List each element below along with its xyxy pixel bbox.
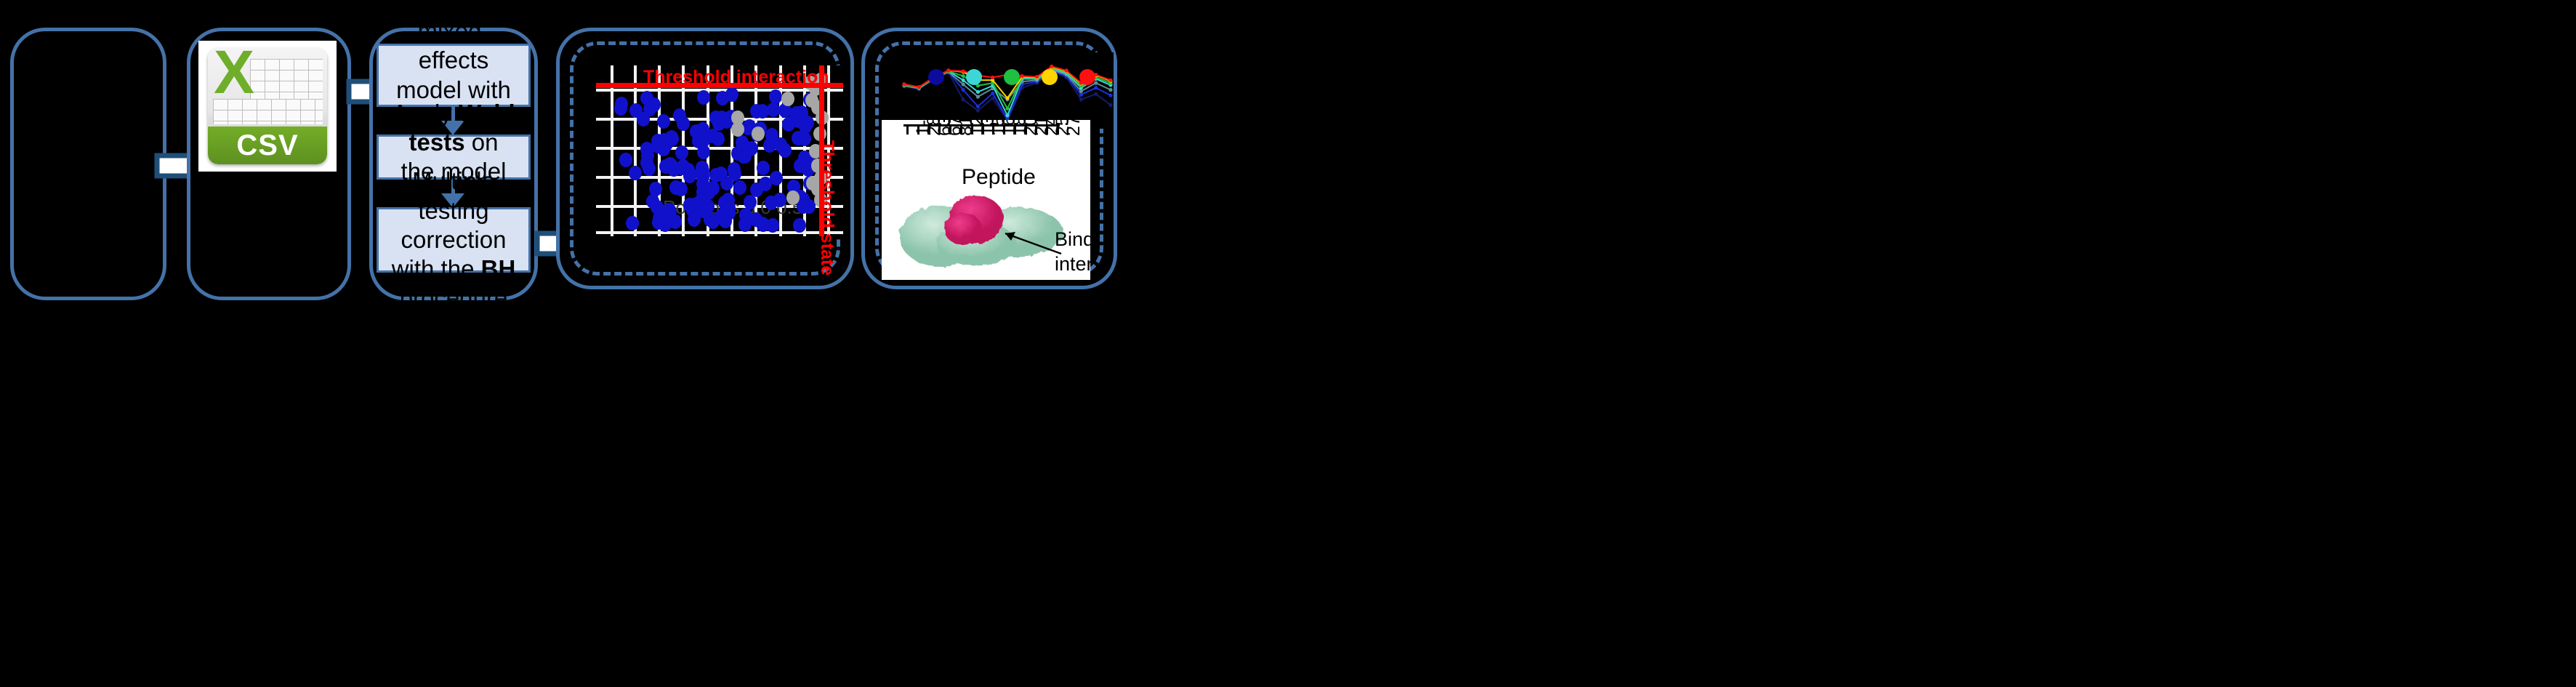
scatter-point	[736, 143, 749, 158]
scatter-point	[715, 111, 728, 125]
binding-label-line1: Binding	[1055, 228, 1090, 250]
chart-data-point	[962, 97, 965, 101]
threshold-interaction-label: Threshold interaction	[643, 67, 829, 88]
csv-file-icon: X CSV	[198, 41, 337, 172]
chart-data-point	[976, 109, 980, 113]
chart-data-point	[976, 95, 980, 99]
scatter-point	[614, 101, 627, 116]
scatter-point	[769, 89, 782, 104]
x-axis-title: Peptide	[962, 165, 1036, 190]
legend-dot	[966, 69, 982, 85]
chart-data-point	[962, 88, 965, 92]
binding-interface-label: Binding interface	[1055, 228, 1090, 277]
binding-label-line2: interface	[1055, 253, 1090, 275]
axis-tick	[906, 124, 909, 134]
legend-dot	[1004, 69, 1020, 85]
scatter-point	[712, 132, 725, 146]
scatter-point	[770, 171, 783, 185]
scatter-point	[675, 145, 688, 160]
scatter-point	[696, 161, 709, 175]
chart-data-point	[976, 90, 980, 94]
chart-data-point	[1108, 94, 1112, 97]
scatter-point-grey	[752, 126, 765, 141]
chart-legend	[888, 69, 1114, 87]
scatter-point	[773, 193, 786, 207]
scatter-point	[664, 204, 677, 219]
grid-line-h	[596, 147, 843, 150]
scatter-point	[723, 201, 736, 215]
scatter-point-grey	[731, 122, 744, 137]
threshold-state-label: Threshold state	[816, 140, 837, 276]
scatter-point	[720, 176, 733, 190]
grid-line-v	[611, 65, 613, 236]
scatter-point-grey	[786, 190, 800, 205]
scatter-point	[626, 216, 639, 230]
step3-bold: BH	[481, 255, 516, 282]
scatter-point	[697, 145, 710, 159]
scatter-point	[683, 169, 696, 183]
scatter-point	[675, 182, 688, 196]
legend-dot	[1079, 69, 1095, 85]
step3-line3-pre: with the	[392, 255, 481, 282]
step2-pre: Apply	[392, 100, 459, 126]
scatter-point	[649, 182, 662, 196]
excel-x-glyph: X	[214, 51, 254, 96]
chart-data-point	[1079, 89, 1083, 93]
scatter-point	[793, 218, 806, 233]
scatter-point	[798, 132, 811, 146]
scatter-point	[733, 180, 746, 195]
scatter-point	[704, 212, 717, 227]
scatter-plot: Positions 0.0 0.5	[596, 65, 843, 236]
chart-data-point	[1094, 92, 1098, 96]
step2-post: on	[465, 129, 499, 156]
chart-data-point	[1079, 97, 1083, 101]
peptide-structure-image: 1-1528-4463-7367-7581-101122-129135-1441…	[882, 120, 1090, 280]
legend-dot	[928, 69, 944, 85]
scatter-point	[619, 153, 632, 167]
scatter-point	[629, 166, 642, 180]
step1-line1: Fit a linear mixed-	[398, 0, 510, 44]
csv-label: CSV	[236, 129, 298, 162]
chart-data-point	[1005, 113, 1009, 117]
peptide-line-chart: 0.01	[888, 52, 1114, 129]
scatter-point	[794, 158, 807, 173]
chart-data-point	[1108, 88, 1112, 92]
step3-line1: Multiple testing	[412, 167, 495, 223]
step3-line3-post: procedure	[400, 284, 508, 311]
legend-dot	[1042, 69, 1058, 85]
scatter-point	[739, 208, 752, 222]
step-bh-correction: Multiple testing correction with the BH …	[377, 207, 531, 273]
chart-data-point	[991, 92, 994, 95]
scatter-point	[756, 104, 769, 118]
scatter-point-grey	[781, 92, 794, 106]
scatter-point	[643, 102, 656, 116]
grid-line-v	[634, 65, 637, 236]
empty-panel	[10, 28, 166, 300]
scatter-point	[688, 212, 701, 227]
scatter-point	[652, 136, 665, 150]
scatter-point	[657, 114, 670, 129]
chart-data-point	[976, 105, 980, 108]
scatter-canvas: Positions 0.0 0.5	[596, 65, 843, 236]
chart-data-point	[1108, 103, 1112, 107]
peptide-tick-label: 277-284	[1063, 120, 1084, 136]
chart-data-point	[1079, 93, 1083, 97]
scatter-point	[757, 161, 770, 175]
protein-structure-figure	[890, 187, 1072, 274]
chart-data-point	[1005, 96, 1009, 100]
scatter-point	[725, 87, 738, 102]
scatter-point	[782, 117, 795, 132]
scatter-point	[673, 108, 686, 123]
chart-data-point	[1005, 107, 1009, 111]
grid-line-h	[596, 231, 843, 234]
line-chart-svg: 0.01	[888, 52, 1114, 129]
chart-data-point	[1050, 65, 1053, 68]
step-fit-model: Fit a linear mixed- effects model with R…	[377, 44, 531, 107]
step1-line2: effects model with	[396, 47, 511, 103]
step3-line2: correction	[401, 226, 507, 253]
